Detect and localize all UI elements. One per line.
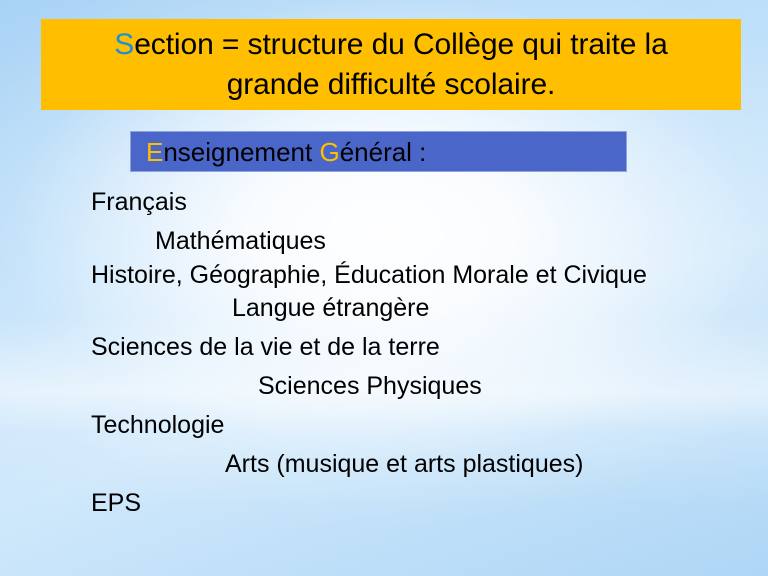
list-item: Sciences de la vie et de la terre: [0, 328, 768, 367]
slide-canvas: Section = structure du Collège qui trait…: [0, 0, 768, 576]
list-item: EPS: [0, 484, 768, 523]
list-item: Langue étrangère: [0, 289, 768, 328]
subheading-accent-letter-e: E: [146, 137, 163, 167]
title-line-1: ection = structure du Collège qui traite…: [134, 28, 668, 61]
subheading-segment-2: énéral :: [340, 137, 427, 167]
subheading-accent-letter-g: G: [319, 137, 339, 167]
subheading-label: Enseignement Général :: [131, 137, 426, 167]
list-item: Français: [0, 183, 768, 222]
subheading-segment-1: nseignement: [163, 137, 319, 167]
title-accent-letter: S: [114, 28, 134, 61]
title-banner: Section = structure du Collège qui trait…: [41, 19, 741, 110]
title-line-2: grande difficulté scolaire.: [227, 68, 556, 101]
list-item: Arts (musique et arts plastiques): [0, 445, 768, 484]
subheading-box: Enseignement Général :: [130, 131, 627, 172]
subject-list: Français Mathématiques Histoire, Géograp…: [0, 183, 768, 523]
list-item: Technologie: [0, 406, 768, 445]
list-item: Sciences Physiques: [0, 367, 768, 406]
list-item: Mathématiques: [0, 222, 768, 261]
slide-title: Section = structure du Collège qui trait…: [114, 25, 667, 105]
list-item: Histoire, Géographie, Éducation Morale e…: [0, 261, 768, 289]
